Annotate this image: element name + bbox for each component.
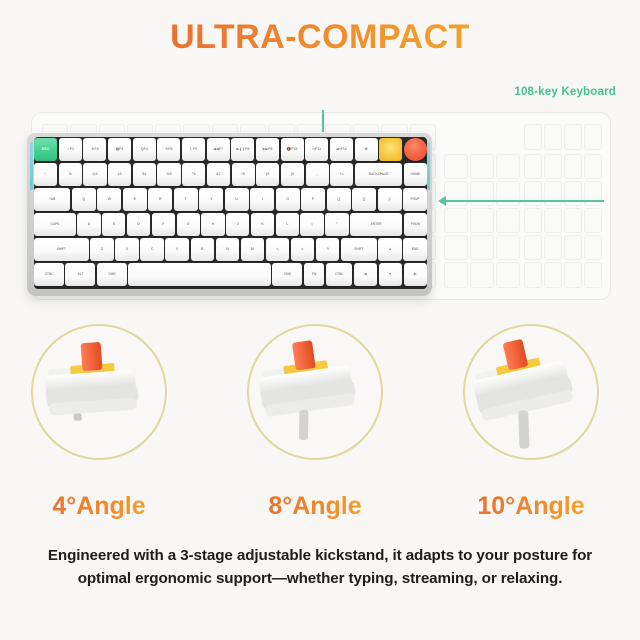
ghost-key: [524, 262, 542, 288]
key-☀-f2[interactable]: ☀F2: [83, 138, 106, 161]
ghost-key: [584, 208, 602, 233]
key-▶❙❙-f8[interactable]: ▶❙❙F8: [231, 138, 254, 161]
keyboard-modifier-row: CTRLALTCMDCMDFNCTRL◀▼▶: [34, 263, 427, 286]
key-legend: PGUP: [410, 197, 419, 201]
key-q-f4[interactable]: QF4: [133, 138, 156, 161]
key-home[interactable]: HOME: [404, 163, 427, 186]
key-s[interactable]: S: [102, 213, 125, 236]
size-reduction-arrow-left-icon: [446, 200, 604, 202]
key-t[interactable]: T: [174, 188, 198, 211]
key-legend: /: [328, 247, 329, 251]
key-alt[interactable]: ALT: [65, 263, 95, 286]
key-h[interactable]: H: [201, 213, 224, 236]
key-f[interactable]: F: [152, 213, 175, 236]
key-c[interactable]: C: [140, 238, 164, 261]
key-r[interactable]: R: [148, 188, 172, 211]
key-legend: F11: [315, 147, 321, 151]
key-legend: CMD: [108, 272, 115, 276]
ghost-key: [470, 154, 494, 179]
key-legend: M: [251, 247, 254, 251]
key-legend: ▲: [388, 247, 392, 251]
key-legend: 5: [170, 172, 172, 176]
key-legend: S: [113, 222, 115, 226]
key-legend: W: [108, 197, 111, 201]
ghost-key: [544, 181, 562, 206]
ghost-key: [564, 124, 582, 150]
key-legend: P: [312, 197, 314, 201]
ghost-key: [444, 235, 468, 260]
key-legend: ALT: [77, 272, 83, 276]
key-l[interactable]: L: [276, 213, 299, 236]
ghost-key: [524, 235, 542, 260]
key-legend: F2: [94, 147, 98, 151]
key-◀◀-f7[interactable]: ◀◀F7: [207, 138, 230, 161]
key-legend: TAB: [49, 197, 55, 201]
ghost-key: [444, 208, 468, 233]
key-legend: `: [46, 172, 47, 176]
ghost-key: [584, 154, 602, 179]
key-ctrl[interactable]: CTRL: [326, 263, 352, 286]
side-light-left-icon: [30, 142, 33, 190]
key-legend: CMD: [284, 272, 291, 276]
key-:-;[interactable]: :;: [300, 213, 323, 236]
key-tab[interactable]: TAB: [34, 188, 70, 211]
key-legend: L: [286, 222, 288, 226]
key-e[interactable]: E: [123, 188, 147, 211]
key-pgdn[interactable]: PGDN: [404, 213, 427, 236]
key-legend: ▶❙❙: [236, 147, 245, 151]
key-legend: ;: [312, 222, 313, 226]
ghost-key: [544, 124, 562, 150]
key-▶[interactable]: ▶: [404, 263, 427, 286]
key-u[interactable]: U: [225, 188, 249, 211]
key-v[interactable]: V: [165, 238, 189, 261]
key-shift[interactable]: SHIFT: [341, 238, 377, 261]
key-legend: 2: [96, 172, 98, 176]
key-legend: V: [176, 247, 178, 251]
key-legend: ▼: [389, 272, 393, 276]
full-size-keyboard-label: 108-key Keyboard: [514, 86, 616, 98]
key-&-7[interactable]: &7: [207, 163, 230, 186]
key-i[interactable]: I: [250, 188, 274, 211]
key-legend: BACKSPACE: [369, 172, 389, 176]
key-legend: ]: [364, 197, 365, 201]
key-legend: CTRL: [335, 272, 344, 276]
key-enter[interactable]: ENTER: [350, 213, 402, 236]
keyboard-number-row: ~`!1@2#3$4%5^6&7*8(9)0_-+=BACKSPACEHOME: [34, 163, 427, 186]
key-%-5[interactable]: %5: [157, 163, 180, 186]
key-legend: -: [318, 172, 319, 176]
key-legend: C: [151, 247, 154, 251]
ghost-key: [524, 181, 542, 206]
key-}-][interactable]: }]: [352, 188, 376, 211]
ghost-key: [496, 181, 520, 206]
key-legend: J: [237, 222, 239, 226]
key-legend: F7: [219, 147, 223, 151]
key-legend: HOME: [411, 172, 421, 176]
key-legend: H: [212, 222, 215, 226]
key-!-1[interactable]: !1: [59, 163, 82, 186]
key-k[interactable]: K: [251, 213, 274, 236]
key-⟲-f5[interactable]: ⟲F5: [157, 138, 180, 161]
ghost-key: [496, 235, 520, 260]
ghost-key: [564, 235, 582, 260]
key-legend: ◀: [364, 272, 367, 276]
key-legend: ': [337, 222, 338, 226]
ghost-key: [524, 208, 542, 233]
ghost-key: [564, 208, 582, 233]
key-🔇-f10[interactable]: 🔇F10: [281, 138, 304, 161]
key-p[interactable]: P: [301, 188, 325, 211]
key-▦-f3[interactable]: ▦F3: [108, 138, 131, 161]
key-g[interactable]: G: [177, 213, 200, 236]
key-legend: ⇄: [365, 147, 368, 151]
key-legend: =: [342, 172, 344, 176]
key-d[interactable]: D: [127, 213, 150, 236]
key-legend: N: [226, 247, 229, 251]
key-#-3[interactable]: #3: [108, 163, 131, 186]
ghost-key: [544, 235, 562, 260]
key-legend: O: [286, 197, 289, 201]
key-*-8[interactable]: *8: [232, 163, 255, 186]
key-legend: F4: [144, 147, 148, 151]
key-legend: ESC: [42, 147, 49, 151]
key-☼-f1[interactable]: ☼F1: [59, 138, 82, 161]
ghost-key: [470, 208, 494, 233]
angle-photo-8: [247, 324, 383, 460]
key-blank[interactable]: [404, 138, 427, 161]
ghost-key: [564, 154, 582, 179]
key-legend: B: [201, 247, 204, 251]
key-|-\[interactable]: |\: [378, 188, 402, 211]
ghost-key: [584, 262, 602, 288]
key-legend: CTRL: [45, 272, 54, 276]
key-☾-f6[interactable]: ☾F6: [182, 138, 205, 161]
keyboard-home-row: CAPSASDFGHJKL:;"'ENTERPGDN: [34, 213, 427, 236]
key-blank[interactable]: [128, 263, 270, 286]
key-{-[[interactable]: {[: [327, 188, 351, 211]
ghost-key: [564, 181, 582, 206]
key-(-9[interactable]: (9: [256, 163, 279, 186]
feature-caption: Engineered with a 3-stage adjustable kic…: [26, 544, 614, 590]
key-legend: ,: [278, 247, 279, 251]
ghost-key: [444, 262, 468, 288]
key-◀»-f12[interactable]: ◀»F12: [330, 138, 353, 161]
key-legend: 7: [219, 172, 221, 176]
key-ctrl[interactable]: CTRL: [34, 263, 64, 286]
ghost-key: [584, 124, 602, 150]
key-w[interactable]: W: [97, 188, 121, 211]
compact-keyboard: ESC☼F1☀F2▦F3QF4⟲F5☾F6◀◀F7▶❙❙F8▶▶F9🔇F10◁F…: [27, 132, 432, 296]
ghost-key: [544, 262, 562, 288]
ghost-key: [524, 154, 542, 179]
key-legend: F8: [245, 147, 249, 151]
ghost-key: [470, 262, 494, 288]
key-◀[interactable]: ◀: [354, 263, 377, 286]
key-legend: Q: [83, 197, 86, 201]
key-fn[interactable]: FN: [304, 263, 325, 286]
ghost-key: [584, 235, 602, 260]
key-legend: 9: [267, 172, 269, 176]
key-z[interactable]: Z: [90, 238, 114, 261]
keyboard-qwerty-row: TABQWERTYUIOP{[}]|\PGUP: [34, 188, 427, 211]
key-legend: D: [137, 222, 140, 226]
key-~-`[interactable]: ~`: [34, 163, 57, 186]
key-j[interactable]: J: [226, 213, 249, 236]
ghost-key: [496, 208, 520, 233]
angle-photo-10: [463, 324, 599, 460]
key-legend: ▶: [414, 272, 417, 276]
key-legend: 4: [144, 172, 146, 176]
key-^-6[interactable]: ^6: [182, 163, 205, 186]
ghost-key: [496, 262, 520, 288]
key-legend: G: [187, 222, 190, 226]
key-legend: F1: [70, 147, 74, 151]
key-legend: [: [339, 197, 340, 201]
key-legend: E: [134, 197, 136, 201]
ghost-key: [444, 181, 468, 206]
key-o[interactable]: O: [276, 188, 300, 211]
ghost-key: [470, 235, 494, 260]
key-legend: F10: [291, 147, 297, 151]
key-legend: F3: [119, 147, 123, 151]
ghost-key: [444, 154, 468, 179]
keyboard-zxcv-row: SHIFTZXCVBNM<,>.?/SHIFT▲END: [34, 238, 427, 261]
key-legend: I: [262, 197, 263, 201]
key-b[interactable]: B: [191, 238, 215, 261]
ghost-key: [524, 124, 542, 150]
key-a[interactable]: A: [77, 213, 100, 236]
key-legend: 3: [120, 172, 122, 176]
key-legend: F9: [268, 147, 272, 151]
key-esc[interactable]: ESC: [34, 138, 57, 161]
key->-.[interactable]: >.: [291, 238, 315, 261]
key-legend: 1: [70, 172, 72, 176]
page-title: ULTRA-COMPACT: [0, 18, 640, 57]
ghost-key: [544, 154, 562, 179]
key-legend: PGDN: [411, 222, 420, 226]
key-▶▶-f9[interactable]: ▶▶F9: [256, 138, 279, 161]
ghost-key: [564, 262, 582, 288]
key-+-=[interactable]: +=: [330, 163, 353, 186]
key-legend: SHIFT: [354, 247, 363, 251]
key-@-2[interactable]: @2: [83, 163, 106, 186]
key-blank[interactable]: [379, 138, 402, 161]
key-legend: R: [159, 197, 162, 201]
key-legend: 8: [243, 172, 245, 176]
key-legend: F5: [168, 147, 172, 151]
key-legend: K: [261, 222, 264, 226]
ghost-key: [584, 181, 602, 206]
key-legend: ENTER: [371, 222, 382, 226]
key-legend: Y: [210, 197, 212, 201]
key-legend: CAPS: [51, 222, 60, 226]
key-_--[interactable]: _-: [306, 163, 329, 186]
key-legend: A: [88, 222, 91, 226]
angle-label-8: 8°Angle: [230, 492, 400, 521]
key-legend: SHIFT: [57, 247, 66, 251]
key-cmd[interactable]: CMD: [97, 263, 127, 286]
key-cmd[interactable]: CMD: [272, 263, 302, 286]
key-shift[interactable]: SHIFT: [34, 238, 89, 261]
key-backspace[interactable]: BACKSPACE: [355, 163, 402, 186]
angle-photo-4: [31, 324, 167, 460]
key-legend: T: [185, 197, 187, 201]
key-<-,[interactable]: <,: [266, 238, 290, 261]
key-pgup[interactable]: PGUP: [403, 188, 427, 211]
key-legend: 0: [292, 172, 294, 176]
key-end[interactable]: END: [403, 238, 427, 261]
key-legend: FN: [312, 272, 316, 276]
key-legend: \: [390, 197, 391, 201]
key-?-/[interactable]: ?/: [316, 238, 340, 261]
keyboard-keys-plate: ESC☼F1☀F2▦F3QF4⟲F5☾F6◀◀F7▶❙❙F8▶▶F9🔇F10◁F…: [34, 137, 427, 289]
key-legend: END: [412, 247, 419, 251]
key-legend: U: [235, 197, 238, 201]
key-legend: F12: [341, 147, 347, 151]
key-◁-f11[interactable]: ◁F11: [305, 138, 328, 161]
keyboard-function-row: ESC☼F1☀F2▦F3QF4⟲F5☾F6◀◀F7▶❙❙F8▶▶F9🔇F10◁F…: [34, 138, 427, 161]
angle-label-4: 4°Angle: [14, 492, 184, 521]
ghost-key: [544, 208, 562, 233]
key-m[interactable]: M: [241, 238, 265, 261]
key-legend: 6: [194, 172, 196, 176]
key-)-0[interactable]: )0: [281, 163, 304, 186]
key-x[interactable]: X: [115, 238, 139, 261]
ghost-key: [496, 154, 520, 179]
key-legend: .: [303, 247, 304, 251]
angle-label-10: 10°Angle: [446, 492, 616, 521]
key-caps[interactable]: CAPS: [34, 213, 76, 236]
key-▼[interactable]: ▼: [379, 263, 402, 286]
key-legend: F6: [193, 147, 197, 151]
key-n[interactable]: N: [216, 238, 240, 261]
key-$-4[interactable]: $4: [133, 163, 156, 186]
ghost-key: [470, 181, 494, 206]
key-q[interactable]: Q: [72, 188, 96, 211]
key-y[interactable]: Y: [199, 188, 223, 211]
key-"-'[interactable]: "': [325, 213, 348, 236]
key-legend: X: [126, 247, 128, 251]
key-legend: Z: [101, 247, 103, 251]
key-legend: F: [162, 222, 164, 226]
key-⇄[interactable]: ⇄: [355, 138, 378, 161]
product-infographic: ULTRA-COMPACT 108-key Keyboard ESC☼F1☀F2…: [0, 0, 640, 640]
key-▲[interactable]: ▲: [378, 238, 402, 261]
